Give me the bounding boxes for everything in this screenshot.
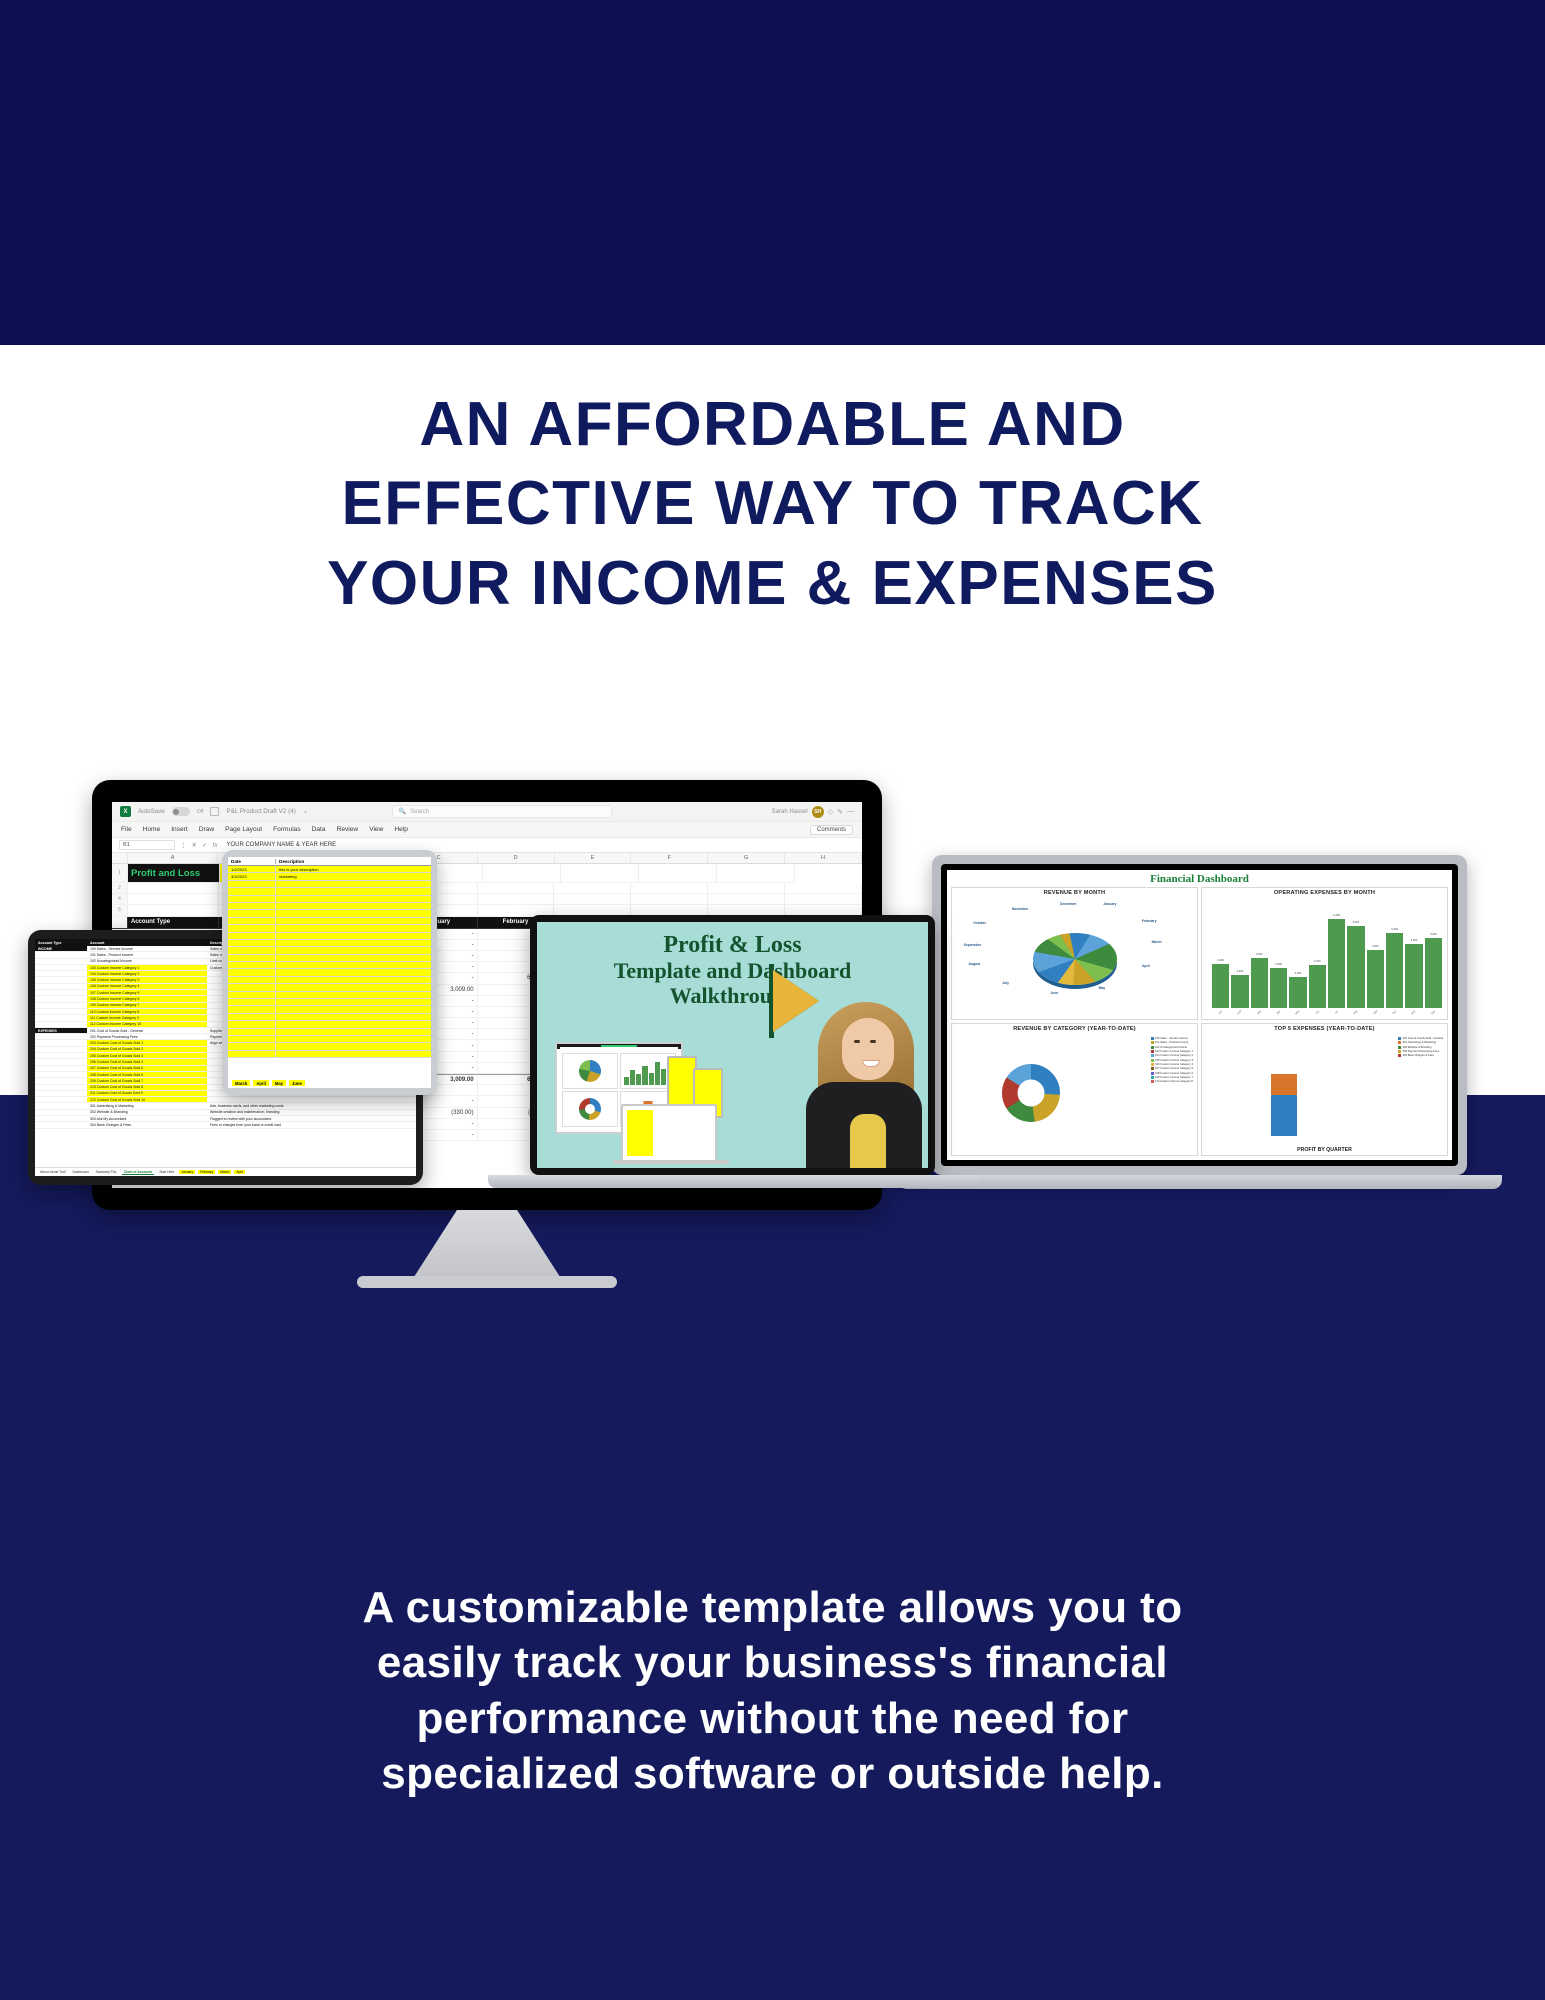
sheet-tab[interactable]: March [218, 1170, 231, 1174]
description-row[interactable] [228, 1036, 431, 1043]
cell-date[interactable] [228, 969, 276, 975]
description-row[interactable] [228, 881, 431, 888]
cell[interactable] [708, 883, 785, 894]
coa-account-type[interactable] [35, 1022, 87, 1027]
description-row[interactable]: 3/3/2023marketing [228, 873, 431, 880]
ribbon-tab-page-layout[interactable]: Page Layout [225, 826, 262, 833]
presenter-eye-left [854, 1040, 860, 1043]
description-row[interactable] [228, 1051, 431, 1058]
description-row[interactable] [228, 888, 431, 895]
row-number[interactable]: 2 [112, 883, 128, 894]
coa-account[interactable]: 112 Custom Income Category 10 [87, 1022, 207, 1027]
coa-account[interactable]: 106 Custom Income Category 4 [87, 984, 207, 989]
cell-date[interactable] [228, 888, 276, 894]
coa-account[interactable]: 202 Payment Processing Fees [87, 1034, 207, 1039]
coa-account[interactable]: 206 Custom Cost of Goods Sold 4 [87, 1059, 207, 1064]
coa-description[interactable] [207, 1097, 416, 1102]
bar: 3,600 [1251, 958, 1268, 1008]
legend-item: 107 Custom Income Category 5 [1151, 1067, 1193, 1070]
cell[interactable] [785, 883, 862, 894]
cell[interactable] [785, 894, 862, 905]
bar-value-label: 2,200 [1295, 972, 1302, 975]
cell-description[interactable] [276, 1014, 431, 1020]
ribbon-tab-draw[interactable]: Draw [199, 826, 214, 833]
cell[interactable] [478, 894, 555, 905]
cell-date[interactable] [228, 947, 276, 953]
minimize-icon[interactable]: — [847, 808, 854, 815]
cell-description[interactable] [276, 1051, 431, 1057]
chart-revenue-by-category: 100 Sales - Service Income101 Sales - Pr… [954, 1033, 1195, 1153]
legend-item: 301 Advertising & Marketing [1398, 1041, 1443, 1044]
search-placeholder: Search [410, 809, 429, 815]
coa-account-type[interactable] [35, 1015, 87, 1020]
sheet-tab[interactable]: Dashboard [70, 1170, 90, 1174]
panel-title-top-expenses: TOP 5 EXPENSES (YEAR-TO-DATE) [1204, 1026, 1445, 1033]
description-row[interactable] [228, 933, 431, 940]
legend-top-expenses: 201 Cost of Goods Sold - General301 Adve… [1398, 1037, 1443, 1057]
description-row[interactable] [228, 962, 431, 969]
legend-item: 110 Custom Income Category 8 [1151, 1080, 1193, 1083]
cell-date[interactable] [228, 955, 276, 961]
bar-value-label: 3,100 [1314, 960, 1321, 963]
coa-account-type[interactable] [35, 1110, 87, 1115]
bar-value-label: 3,200 [1217, 959, 1224, 962]
cell[interactable] [631, 894, 708, 905]
mock-donut-chart [579, 1098, 601, 1120]
ribbon-tab-file[interactable]: File [121, 826, 132, 833]
cell[interactable] [128, 894, 219, 905]
month-tab[interactable]: April [253, 1080, 269, 1086]
presenter-photo [802, 988, 924, 1168]
cell[interactable] [554, 894, 631, 905]
sheet-tab[interactable]: Start Here [157, 1170, 176, 1174]
bar [655, 1062, 660, 1085]
legend-item: 103 Custom Income Category 1 [1151, 1050, 1193, 1053]
description-row[interactable] [228, 999, 431, 1006]
coa-account[interactable]: 203 Custom Cost of Goods Sold 1 [87, 1040, 207, 1045]
row-number[interactable]: 6 [112, 917, 128, 929]
column-header-d[interactable]: D [478, 853, 555, 863]
coa-account-type[interactable]: EXPENSES [35, 1028, 87, 1033]
cell-description[interactable] [276, 881, 431, 887]
coa-account[interactable]: 302 Website & Branding [87, 1110, 207, 1115]
coa-account-type[interactable] [35, 965, 87, 970]
formula-bar-row: B1 ⋮ ✕ ✓ fx YOUR COMPANY NAME & YEAR HER… [112, 838, 862, 853]
ribbon-tab-help[interactable]: Help [394, 826, 408, 833]
header-date: Date [228, 859, 276, 864]
header-account-type: Account Type [128, 917, 219, 929]
search-box[interactable]: 🔍 Search [392, 805, 612, 818]
headline-line-3: YOUR INCOME & EXPENSES [0, 544, 1545, 623]
cell-date[interactable] [228, 1036, 276, 1042]
cell[interactable] [631, 883, 708, 894]
cell-date[interactable] [228, 1051, 276, 1057]
cell-description[interactable]: marketing [276, 873, 431, 879]
coa-account[interactable]: 204 Custom Cost of Goods Sold 2 [87, 1047, 207, 1052]
empty-cell[interactable] [639, 864, 717, 883]
coa-account-type[interactable] [35, 1009, 87, 1014]
month-tab[interactable]: June [289, 1080, 305, 1086]
column-header-g[interactable]: G [708, 853, 785, 863]
coa-account[interactable]: 107 Custom Income Category 5 [87, 990, 207, 995]
bar-value-label: 4,200 [1372, 945, 1379, 948]
empty-cell[interactable] [561, 864, 639, 883]
description-row[interactable] [228, 992, 431, 999]
user-name: Sarah Hassel [772, 809, 808, 815]
ribbon-tab-view[interactable]: View [369, 826, 383, 833]
cell-date[interactable] [228, 1014, 276, 1020]
coa-account-type[interactable] [35, 977, 87, 982]
cell-description[interactable] [276, 955, 431, 961]
bar-value-label: 5,900 [1353, 921, 1360, 924]
description-row[interactable] [228, 1014, 431, 1021]
legend-swatch [1398, 1037, 1401, 1040]
cell-date[interactable] [228, 903, 276, 909]
name-box[interactable]: B1 [119, 840, 175, 850]
ribbon-tab-home[interactable]: Home [143, 826, 161, 833]
coa-account[interactable]: 103 Custom Income Category 1 [87, 965, 207, 970]
description-row[interactable] [228, 918, 431, 925]
coa-account[interactable]: 211 Custom Cost of Goods Sold 9 [87, 1091, 207, 1096]
cell-description[interactable] [276, 1029, 431, 1035]
bar-axis-labels: JanFebMarAprMayJunJulAugSepOctNovDec [1212, 1011, 1442, 1014]
workbook-filename[interactable]: P&L Product Draft V2 (4) [226, 808, 295, 815]
imac-stand [412, 1210, 562, 1280]
coa-account[interactable]: 101 Sales - Product Income [87, 952, 207, 957]
cell-description[interactable] [276, 918, 431, 924]
ribbon-tab-data[interactable]: Data [312, 826, 326, 833]
coa-account[interactable]: 102 Uncategorized Income [87, 959, 207, 964]
cell-description[interactable] [276, 992, 431, 998]
coa-account-type[interactable] [35, 1053, 87, 1058]
coa-account-type[interactable] [35, 959, 87, 964]
cell-date[interactable] [228, 1043, 276, 1049]
coa-account-type[interactable] [35, 1116, 87, 1121]
headline-line-1: AN AFFORDABLE AND [0, 385, 1545, 464]
presenter-face [842, 1018, 894, 1080]
pie-label-april: April [1142, 964, 1150, 968]
coa-account-type[interactable] [35, 1072, 87, 1077]
sheet-tab[interactable]: Summary P&L [94, 1170, 119, 1174]
column-header-f[interactable]: F [631, 853, 708, 863]
bar [636, 1074, 641, 1085]
cell[interactable] [128, 883, 219, 894]
cell-description[interactable] [276, 1006, 431, 1012]
month-tab[interactable]: May [272, 1080, 286, 1086]
bar: 5,000 [1425, 938, 1442, 1008]
sheet-tab[interactable]: About Jamie Trull [38, 1170, 67, 1174]
legend-swatch [1151, 1037, 1154, 1040]
coa-account-type[interactable] [35, 1085, 87, 1090]
description-row[interactable] [228, 947, 431, 954]
sheet-tab[interactable]: February [198, 1170, 215, 1174]
bar-value-label: 2,900 [1275, 963, 1282, 966]
coa-account[interactable]: 301 Advertising & Marketing [87, 1103, 207, 1108]
coa-account-type[interactable] [35, 971, 87, 976]
cell[interactable] [128, 905, 219, 916]
description-row[interactable] [228, 896, 431, 903]
bar: 6,400 [1328, 919, 1345, 1008]
coa-account[interactable]: 303 Ask My Accountant [87, 1116, 207, 1121]
bar: 3,200 [1212, 964, 1229, 1008]
cell-date[interactable] [228, 999, 276, 1005]
excel-ribbon-tabs: File Home Insert Draw Page Layout Formul… [112, 822, 862, 838]
cell-date[interactable] [228, 962, 276, 968]
cell-date[interactable] [228, 881, 276, 887]
cell-description[interactable]: this is your description [276, 866, 431, 872]
panel-title-revenue-by-category: REVENUE BY CATEGORY (YEAR-TO-DATE) [954, 1026, 1195, 1033]
coa-account[interactable]: 100 Sales - Service Income [87, 946, 207, 951]
formula-icons: ⋮ ✕ ✓ fx [180, 841, 217, 849]
empty-cell[interactable] [483, 864, 561, 883]
cell-description[interactable] [276, 962, 431, 968]
coa-account-type[interactable] [35, 1066, 87, 1071]
cell-description[interactable] [276, 1043, 431, 1049]
row-number[interactable]: 4 [112, 894, 128, 905]
more-options-icon[interactable]: ⋮ [180, 841, 187, 849]
legend-item: 105 Custom Income Category 3 [1151, 1059, 1193, 1062]
pie-label-december: December [1060, 902, 1076, 906]
legend-item: 304 Bank Charges & Fees [1398, 1054, 1443, 1057]
row-number[interactable]: 5 [112, 905, 128, 916]
cell[interactable] [554, 883, 631, 894]
corner-select-all[interactable] [112, 853, 128, 863]
bar: 4,600 [1405, 944, 1422, 1008]
coa-account-type[interactable] [35, 1103, 87, 1108]
coa-account[interactable]: 209 Custom Cost of Goods Sold 7 [87, 1078, 207, 1083]
legend-item: 101 Sales - Product Income [1151, 1041, 1193, 1044]
ribbon-display-icon[interactable]: ◇ [828, 808, 833, 816]
cell-description[interactable] [276, 910, 431, 916]
cell-date[interactable]: 1/2/2023 [228, 866, 276, 872]
subtext-line-3: performance without the need for [120, 1691, 1425, 1746]
cell-date[interactable]: 3/3/2023 [228, 873, 276, 879]
coa-account[interactable]: 105 Custom Income Category 3 [87, 977, 207, 982]
coa-description[interactable]: Website creation and maintenance, brandi… [207, 1110, 416, 1115]
coa-account-type[interactable] [35, 1091, 87, 1096]
bar [642, 1066, 647, 1085]
subtext-line-2: easily track your business's financial [120, 1635, 1425, 1690]
pie-label-september: September [964, 943, 982, 947]
legend-swatch [1398, 1050, 1401, 1053]
cell-description[interactable] [276, 933, 431, 939]
coa-account[interactable]: 201 Cost of Goods Sold - General [87, 1028, 207, 1033]
column-header-a[interactable]: A [128, 853, 219, 863]
sheet-tab[interactable]: Chart of Accounts [122, 1170, 154, 1175]
description-row[interactable]: 1/2/2023this is your description [228, 866, 431, 873]
cell-date[interactable] [228, 940, 276, 946]
edit-pencil-icon[interactable]: ✎ [837, 808, 843, 816]
cell-date[interactable] [228, 992, 276, 998]
description-row[interactable] [228, 1006, 431, 1013]
avatar: SH [812, 806, 824, 818]
legend-item: 102 Uncategorized Income [1151, 1046, 1193, 1049]
legend-swatch [1398, 1041, 1401, 1044]
ribbon-tab-formulas[interactable]: Formulas [273, 826, 300, 833]
empty-cell[interactable] [717, 864, 795, 883]
bar-value-label: 4,600 [1411, 939, 1418, 942]
coa-account[interactable]: 108 Custom Income Category 6 [87, 996, 207, 1001]
coa-description[interactable]: Fees or charges from your bank or credit… [207, 1122, 416, 1127]
autosave-toggle[interactable] [172, 807, 190, 816]
cell-description[interactable] [276, 977, 431, 983]
description-row[interactable] [228, 1029, 431, 1036]
mock-laptop-highlight [627, 1110, 653, 1156]
mock-pie-chart [579, 1060, 601, 1082]
legend-item: 100 Sales - Service Income [1151, 1037, 1193, 1040]
coa-account[interactable]: 210 Custom Cost of Goods Sold 8 [87, 1085, 207, 1090]
coa-sheet-tabs: About Jamie TrullDashboardSummary P&LCha… [35, 1167, 416, 1176]
coa-account-type[interactable] [35, 1078, 87, 1083]
coa-header-account: Account [87, 939, 207, 946]
cell-date[interactable] [228, 925, 276, 931]
presenter-smile [862, 1060, 880, 1067]
cell-description[interactable] [276, 947, 431, 953]
coa-account-type[interactable] [35, 1059, 87, 1064]
pie-label-may: May [1099, 986, 1106, 990]
video-laptop-device: Profit & Loss Template and Dashboard Wal… [530, 915, 935, 1175]
panel-operating-expenses: OPERATING EXPENSES BY MONTH 3,2002,4003,… [1201, 887, 1448, 1020]
coa-description[interactable]: Ads, business cards, and other marketing… [207, 1103, 416, 1108]
bar-value-label: 5,000 [1430, 933, 1437, 936]
cell[interactable] [708, 894, 785, 905]
cell-description[interactable] [276, 888, 431, 894]
description-row[interactable] [228, 969, 431, 976]
coa-account-type[interactable] [35, 990, 87, 995]
sheet-tab[interactable]: January [179, 1170, 195, 1174]
month-tab[interactable]: March [232, 1080, 250, 1086]
column-header-e[interactable]: E [555, 853, 632, 863]
coa-account[interactable]: 205 Custom Cost of Goods Sold 3 [87, 1053, 207, 1058]
description-row[interactable] [228, 1021, 431, 1028]
panel-title-profit-by-quarter: PROFIT BY QUARTER [1204, 1146, 1445, 1153]
cell[interactable] [478, 883, 555, 894]
legend-swatch [1151, 1041, 1154, 1044]
coa-account-type[interactable] [35, 1040, 87, 1045]
description-row[interactable] [228, 1043, 431, 1050]
cell-description[interactable] [276, 999, 431, 1005]
cell-date[interactable] [228, 984, 276, 990]
cell-date[interactable] [228, 918, 276, 924]
description-row[interactable] [228, 977, 431, 984]
coa-header-account-type: Account Type [35, 939, 87, 946]
cell-date[interactable] [228, 910, 276, 916]
formula-input[interactable]: YOUR COMPANY NAME & YEAR HERE [222, 842, 855, 848]
cell-date[interactable] [228, 977, 276, 983]
legend-item: 109 Custom Income Category 7 [1151, 1076, 1193, 1079]
coa-account-type[interactable] [35, 1097, 87, 1102]
cell-description[interactable] [276, 940, 431, 946]
description-row[interactable] [228, 910, 431, 917]
panel-top-expenses: TOP 5 EXPENSES (YEAR-TO-DATE) 201 Cost o… [1201, 1023, 1448, 1156]
coa-account-type[interactable] [35, 1122, 87, 1127]
coa-account-type[interactable] [35, 996, 87, 1001]
coa-account-type[interactable] [35, 1034, 87, 1039]
coa-description[interactable]: Flagged to review with your accountant. [207, 1116, 416, 1121]
cell-description[interactable] [276, 903, 431, 909]
coa-account-type[interactable] [35, 952, 87, 957]
cell-date[interactable] [228, 1006, 276, 1012]
cancel-icon[interactable]: ✕ [192, 841, 197, 849]
cell-description[interactable] [276, 1021, 431, 1027]
profit-and-loss-cell[interactable]: Profit and Loss [128, 864, 220, 883]
pie-label-november: November [1012, 907, 1029, 911]
subtext-line-4: specialized software or outside help. [120, 1746, 1425, 1801]
pie-label-october: October [973, 921, 986, 925]
coa-account[interactable]: 111 Custom Income Category 9 [87, 1015, 207, 1020]
coa-account-type[interactable]: INCOME [35, 946, 87, 951]
bar-value-label: 2,400 [1237, 970, 1244, 973]
comments-button[interactable]: Comments [810, 825, 853, 835]
bar-value-label: 5,400 [1391, 928, 1398, 931]
cell-date[interactable] [228, 1021, 276, 1027]
coa-account[interactable]: 212 Custom Cost of Goods Sold 10 [87, 1097, 207, 1102]
ribbon-tab-review[interactable]: Review [337, 826, 359, 833]
dashboard-panels: REVENUE BY MONTH December January Februa… [947, 887, 1452, 1160]
page-headline: AN AFFORDABLE AND EFFECTIVE WAY TO TRACK… [0, 385, 1545, 623]
cell-description[interactable] [276, 896, 431, 902]
coa-account[interactable]: 208 Custom Cost of Goods Sold 6 [87, 1072, 207, 1077]
laptop-lid: Financial Dashboard REVENUE BY MONTH Dec… [932, 855, 1467, 1175]
donut-chart [1002, 1064, 1060, 1122]
legend-swatch [1151, 1067, 1154, 1070]
confirm-check-icon[interactable]: ✓ [202, 841, 207, 849]
cell-date[interactable] [228, 1029, 276, 1035]
bar-value-label: 6,400 [1333, 914, 1340, 917]
row-number[interactable]: 1 [112, 864, 128, 883]
coa-account[interactable]: 304 Bank Charges & Fees [87, 1122, 207, 1127]
cell-date[interactable] [228, 896, 276, 902]
coa-account-type[interactable] [35, 984, 87, 989]
coa-account-type[interactable] [35, 1003, 87, 1008]
description-row[interactable] [228, 903, 431, 910]
pie-label-july: July [1002, 981, 1009, 985]
cell-description[interactable] [276, 984, 431, 990]
user-account[interactable]: Sarah Hassel SH ◇ ✎ — [772, 806, 854, 818]
chevron-down-icon[interactable]: ⌄ [303, 808, 308, 815]
sheet-tab[interactable]: April [234, 1170, 245, 1174]
coa-account[interactable]: 104 Custom Income Category 2 [87, 971, 207, 976]
bar: 5,900 [1347, 926, 1364, 1008]
coa-row[interactable]: 304 Bank Charges & FeesFees or charges f… [35, 1122, 416, 1128]
description-row[interactable] [228, 940, 431, 947]
bar [661, 1069, 666, 1085]
save-icon[interactable] [210, 807, 219, 816]
video-thumbnail[interactable]: Profit & Loss Template and Dashboard Wal… [537, 922, 928, 1168]
panel-title-revenue-by-month: REVENUE BY MONTH [954, 890, 1195, 897]
legend-swatch [1151, 1080, 1154, 1083]
coa-account[interactable]: 109 Custom Income Category 7 [87, 1003, 207, 1008]
cell-description[interactable] [276, 1036, 431, 1042]
coa-account[interactable]: 110 Custom Income Category 8 [87, 1009, 207, 1014]
video-laptop-lid: Profit & Loss Template and Dashboard Wal… [530, 915, 935, 1175]
column-header-h[interactable]: H [785, 853, 862, 863]
description-row[interactable] [228, 984, 431, 991]
bar: 4,200 [1367, 950, 1384, 1008]
cell-description[interactable] [276, 925, 431, 931]
cell-description[interactable] [276, 969, 431, 975]
function-icon[interactable]: fx [212, 842, 217, 849]
page-subtext: A customizable template allows you to ea… [120, 1580, 1425, 1802]
cell-date[interactable] [228, 933, 276, 939]
description-row[interactable] [228, 955, 431, 962]
ribbon-tab-insert[interactable]: Insert [171, 826, 188, 833]
description-row[interactable] [228, 925, 431, 932]
coa-account-type[interactable] [35, 1047, 87, 1052]
coa-account[interactable]: 207 Custom Cost of Goods Sold 5 [87, 1066, 207, 1071]
legend-item: 303 Payment Processing Fees [1398, 1050, 1443, 1053]
chart-top-expenses: 201 Cost of Goods Sold - General301 Adve… [1204, 1033, 1445, 1146]
